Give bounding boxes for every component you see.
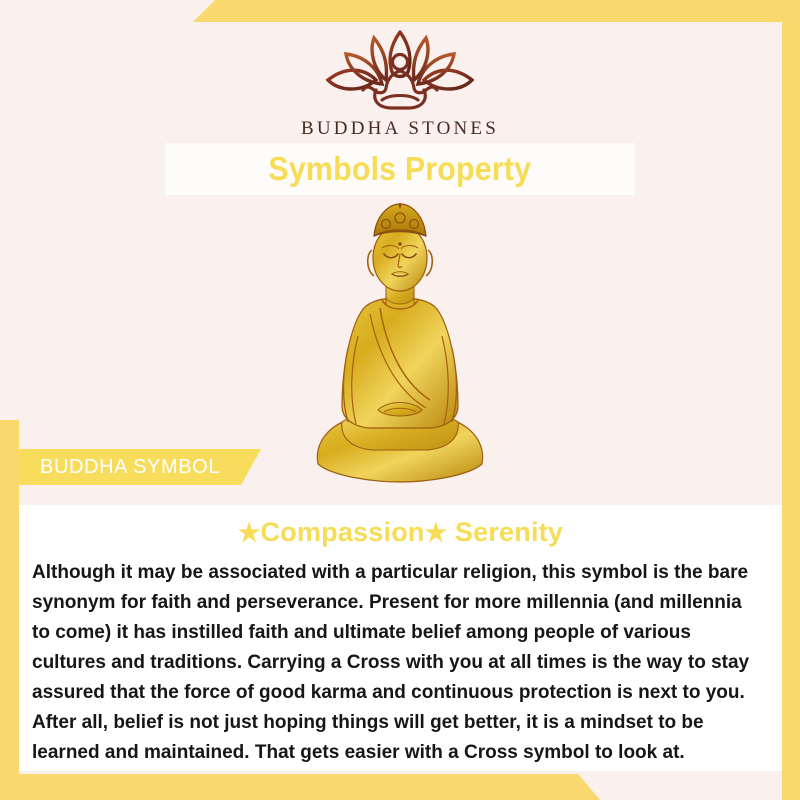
- subheading-word-compassion: Compassion: [261, 517, 425, 547]
- ribbon-label: BUDDHA SYMBOL: [40, 456, 220, 479]
- content-subheading: ★Compassion★ Serenity: [19, 517, 782, 548]
- star-icon-left: ★: [238, 519, 261, 547]
- infographic-page: BUDDHA STONES Symbols Property: [0, 0, 800, 800]
- subheading-word-serenity: Serenity: [447, 517, 563, 547]
- content-panel: ★Compassion★ Serenity Although it may be…: [19, 505, 782, 771]
- content-paragraph: Although it may be associated with a par…: [32, 557, 752, 767]
- page-title: Symbols Property: [269, 150, 532, 188]
- title-band: Symbols Property: [165, 143, 635, 195]
- star-icon-right: ★: [425, 519, 448, 547]
- seated-golden-buddha-statue-icon: [308, 196, 492, 488]
- brand-header: BUDDHA STONES: [0, 22, 800, 142]
- top-yellow-band: [0, 0, 800, 22]
- lotus-meditation-figure-icon: [316, 22, 484, 116]
- brand-name: BUDDHA STONES: [301, 118, 499, 140]
- section-ribbon: BUDDHA SYMBOL: [19, 449, 261, 485]
- bottom-yellow-band: [0, 774, 800, 800]
